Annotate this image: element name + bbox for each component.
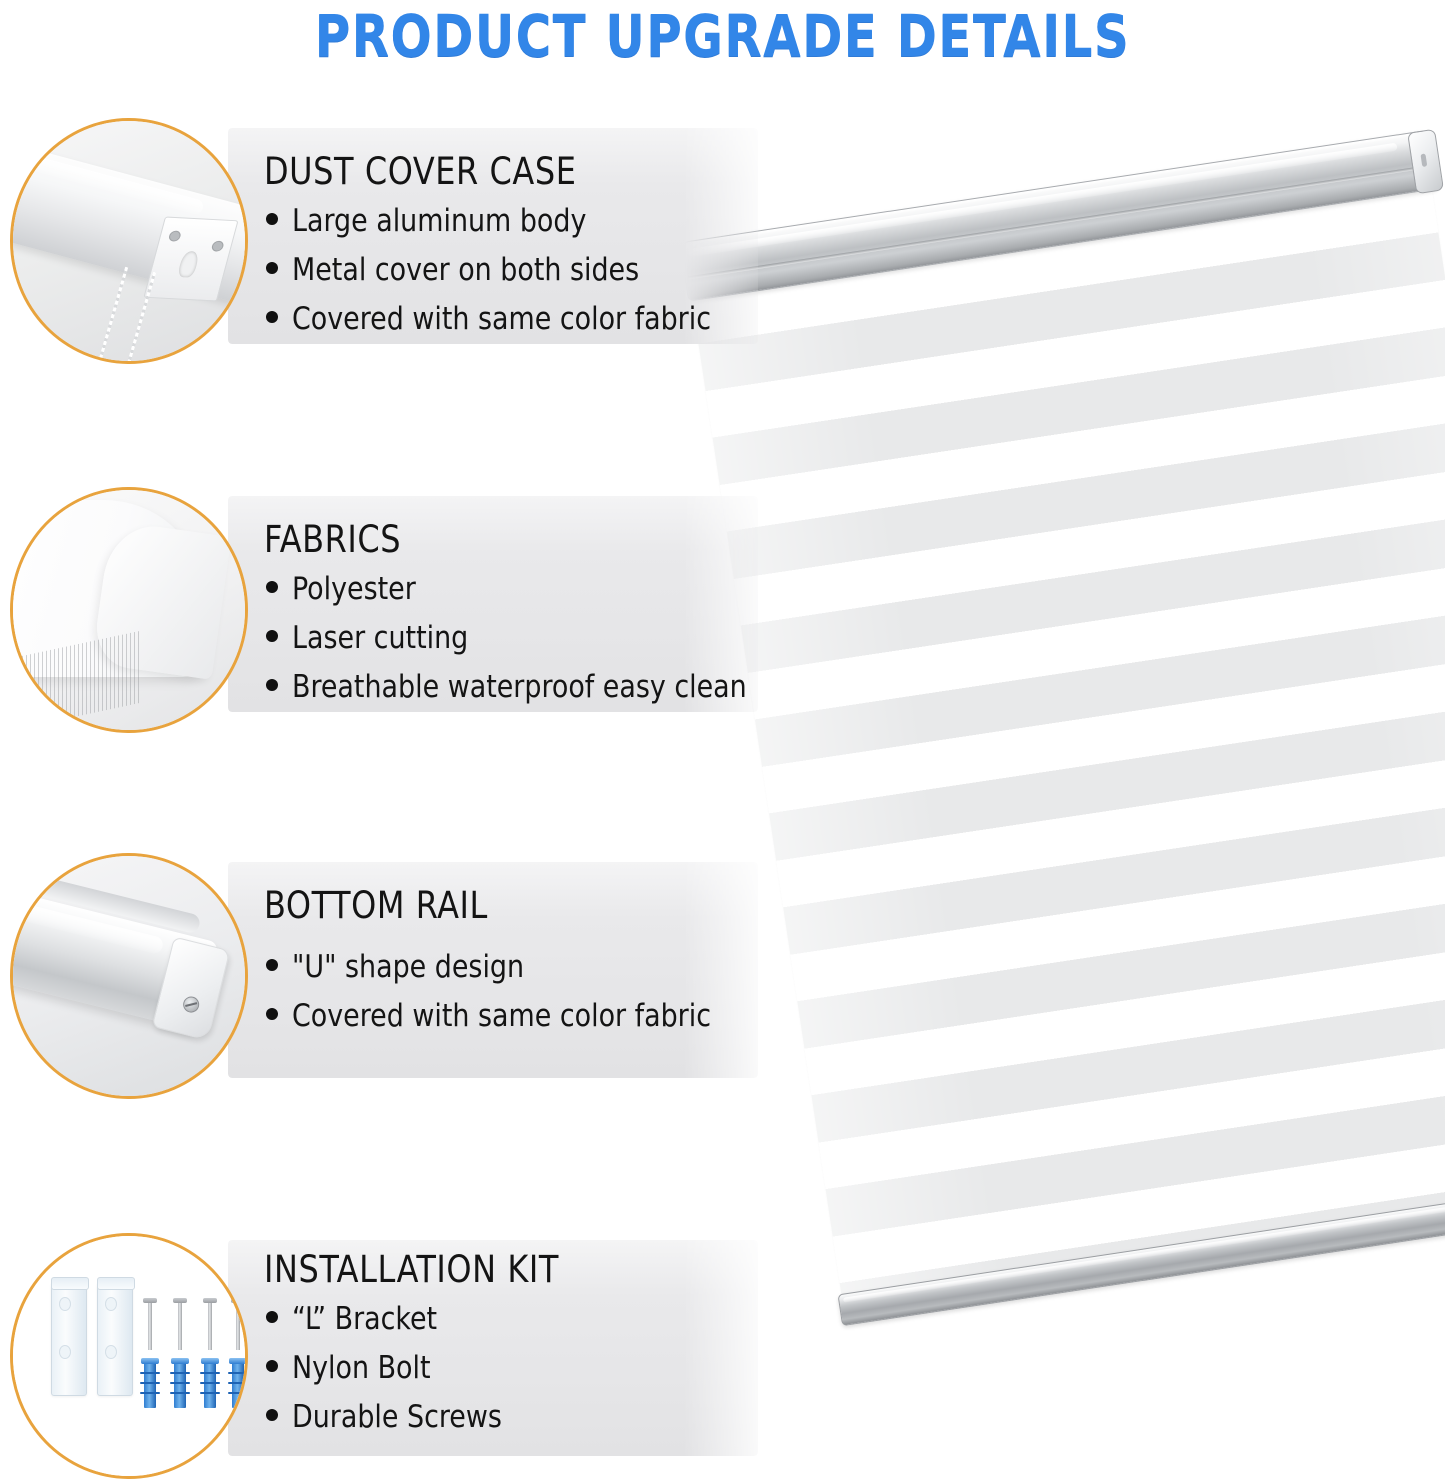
bullet-dot-icon [266,1008,278,1020]
feature-bullet-list: Polyester Laser cutting Breathable water… [266,574,763,721]
bullet-dot-icon [266,1360,278,1372]
bottom-rail-closeup-icon [13,856,245,1096]
anchor-fin [200,1372,220,1374]
screw-icon [177,1298,183,1350]
bead-chain-strand-icon [95,267,128,364]
feature-heading: BOTTOM RAIL [264,884,488,927]
bullet-dot-icon [266,1311,278,1323]
screw-icon [168,231,182,242]
bullet-text: Nylon Bolt [292,1353,431,1384]
anchor-fin [140,1382,160,1384]
screw-icon [235,1298,241,1350]
feature-photo-installation-kit [10,1233,248,1479]
feature-bullet: Breathable waterproof easy clean [266,672,763,703]
bullet-text: Metal cover on both sides [292,255,639,286]
bullet-dot-icon [266,581,278,593]
l-bracket-icon [51,1282,87,1396]
anchor-fin [200,1392,220,1394]
anchor-fin [170,1392,190,1394]
bullet-dot-icon [266,1409,278,1421]
bullet-text: "U" shape design [292,952,524,983]
feature-bullet: “L” Bracket [266,1304,510,1335]
nylon-wall-anchor-icon [232,1358,244,1408]
bullet-text: Covered with same color fabric [292,304,711,335]
feature-photo-dust-cover-case [10,118,248,364]
feature-photo-fabrics [10,487,248,733]
screw-icon [147,1298,153,1350]
feature-bullet: Nylon Bolt [266,1353,510,1384]
feature-heading: INSTALLATION KIT [264,1248,559,1291]
feature-bullet-list: “L” Bracket Nylon Bolt Durable Screws [266,1304,510,1451]
page-title: PRODUCT UPGRADE DETAILS [51,2,1395,70]
bracket-lip [97,1277,135,1290]
bullet-text: Large aluminum body [292,206,586,237]
bullet-dot-icon [266,679,278,691]
screw-shaft [236,1303,240,1350]
feature-bullet: Polyester [266,574,763,605]
anchor-fin [200,1382,220,1384]
bracket-lip [51,1277,89,1290]
installation-hardware-icon [13,1236,245,1476]
screw-shaft [208,1303,212,1350]
nylon-wall-anchor-icon [204,1358,216,1408]
bullet-dot-icon [266,213,278,225]
screw-icon [210,241,224,252]
bullet-text: Covered with same color fabric [292,1001,711,1032]
screw-icon [207,1298,213,1350]
feature-bullet: "U" shape design [266,952,726,983]
feature-heading: FABRICS [264,518,401,561]
bullet-text: Durable Screws [292,1402,502,1433]
feature-bullet-list: "U" shape design Covered with same color… [266,952,726,1050]
blind-body [680,108,1445,1268]
anchor-fin [170,1382,190,1384]
feature-bullet: Covered with same color fabric [266,304,726,335]
chain-outlet-hole [177,250,200,278]
feature-bullet: Laser cutting [266,623,763,654]
fabric-fold-icon [13,490,245,730]
bead-chain-strand-icon [123,272,156,364]
anchor-fin [228,1372,248,1374]
feature-bullet: Durable Screws [266,1402,510,1433]
bullet-dot-icon [266,959,278,971]
anchor-fin [140,1392,160,1394]
screw-icon [182,995,201,1014]
screw-shaft [178,1303,182,1350]
bullet-text: Laser cutting [292,623,468,654]
bullet-text: Polyester [292,574,416,605]
bullet-text: “L” Bracket [292,1304,437,1335]
bullet-dot-icon [266,262,278,274]
feature-bullet: Large aluminum body [266,206,726,237]
feature-bullet-list: Large aluminum body Metal cover on both … [266,206,726,353]
nylon-wall-anchor-icon [144,1358,156,1408]
l-bracket-icon [97,1282,133,1396]
bullet-text: Breathable waterproof easy clean [292,672,747,703]
bullet-dot-icon [266,630,278,642]
bullet-dot-icon [266,311,278,323]
feature-bullet: Metal cover on both sides [266,255,726,286]
zebra-fabric-icon [692,186,1445,1296]
feature-photo-bottom-rail [10,853,248,1099]
anchor-fin [170,1372,190,1374]
feature-bullet: Covered with same color fabric [266,1001,726,1032]
nylon-wall-anchor-icon [174,1358,186,1408]
infographic-canvas: PRODUCT UPGRADE DETAILS [0,0,1445,1479]
anchor-fin [140,1372,160,1374]
headrail-end-cap-icon [1407,129,1444,194]
headrail-cassette-icon [13,121,245,361]
screw-shaft [148,1303,152,1350]
feature-heading: DUST COVER CASE [264,150,576,193]
product-illustration-zebra-blind [640,180,1445,1360]
